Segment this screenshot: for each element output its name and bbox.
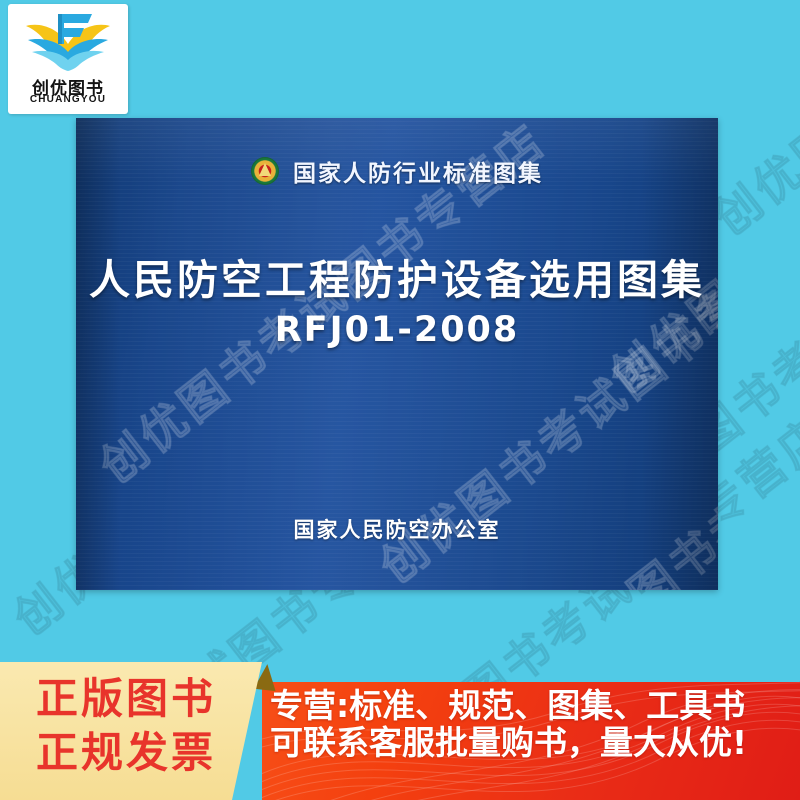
promo-banner-right: 专营:标准、规范、图集、工具书 可联系客服批量购书，量大从优! (262, 682, 800, 800)
chuangyou-bird-logo-icon (14, 10, 122, 76)
book-standard-code: RFJ01-2008 (76, 310, 718, 350)
book-series-header: 国家人防行业标准图集 (76, 154, 718, 188)
seller-logo-card: 创优图书 CHUANGYOU (8, 4, 128, 114)
promo-right-line1: 专营:标准、规范、图集、工具书 (270, 688, 796, 725)
book-publisher: 国家人民防空办公室 (76, 514, 718, 544)
book-series-label: 国家人防行业标准图集 (293, 154, 543, 188)
promo-right-line2: 可联系客服批量购书，量大从优! (270, 725, 796, 762)
promo-banner-zone: 专营:标准、规范、图集、工具书 可联系客服批量购书，量大从优! 正版图书 正规发… (0, 660, 800, 800)
national-defense-emblem-icon (251, 157, 279, 185)
promo-left-line1: 正版图书 (0, 672, 252, 726)
promo-left-line2: 正规发票 (0, 726, 252, 780)
book-cover: 创优图书考试图书专营店 创优图书考试图书专营店 创优图书考试图书专营店 创优图书… (76, 118, 718, 590)
book-title: 人民防空工程防护设备选用图集 (76, 246, 718, 306)
product-image-canvas: 创优图书考试图书专营店 创优图书考试图书专营店 创优图书考试图书专营店 创优图书… (0, 0, 800, 800)
promo-banner-left: 正版图书 正规发票 (0, 662, 292, 800)
seller-name-en: CHUANGYOU (8, 94, 128, 105)
